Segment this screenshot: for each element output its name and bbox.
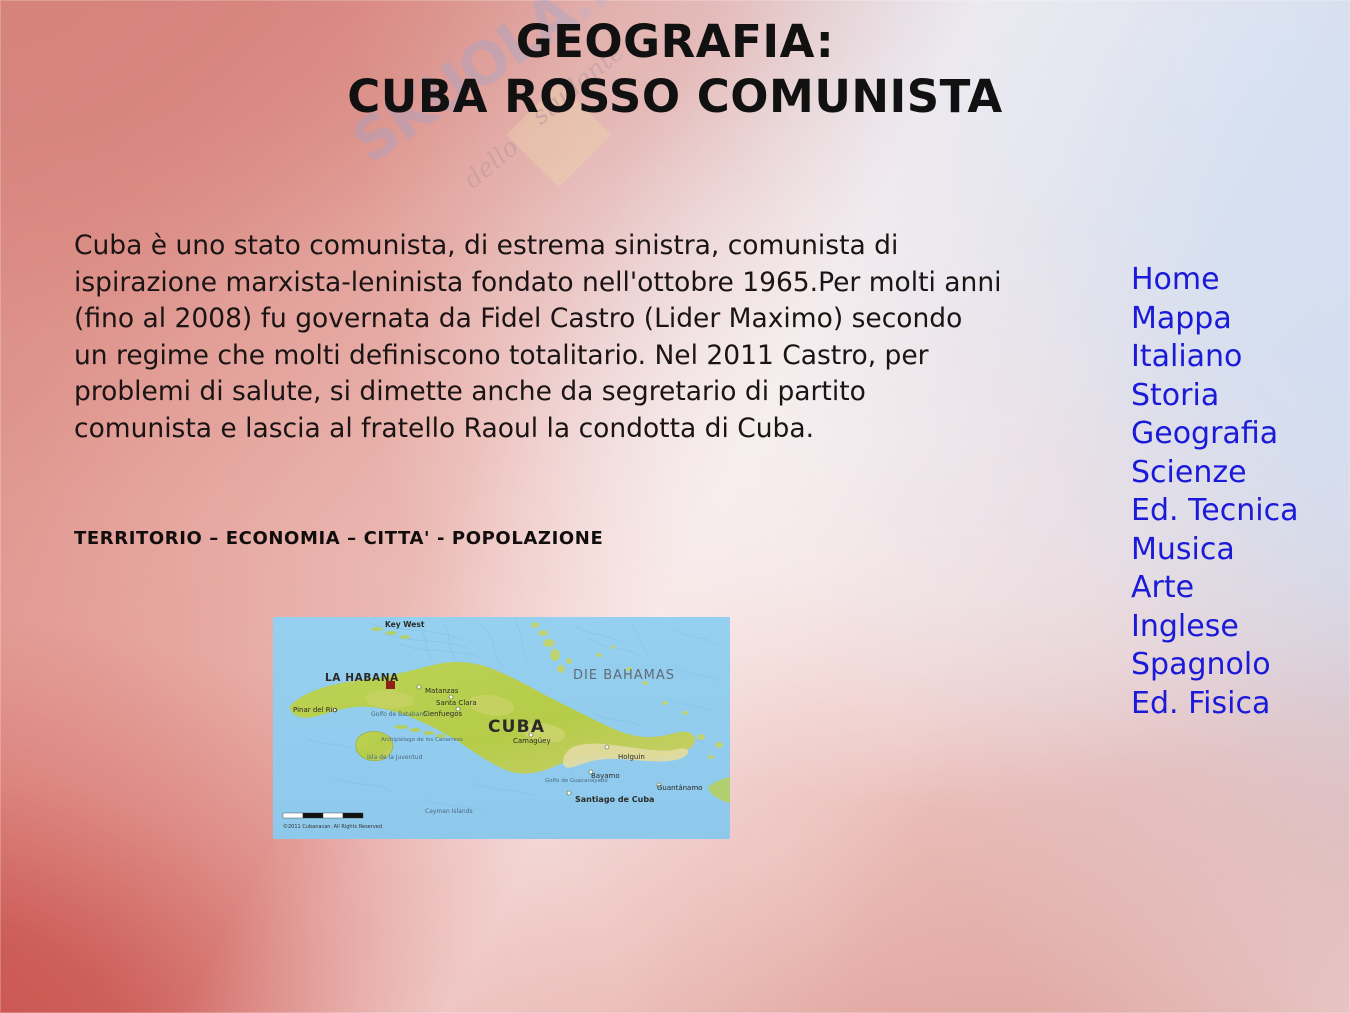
title-line-1: GEOGRAFIA: — [0, 14, 1350, 69]
map-label-holguin: Holguin — [618, 753, 645, 761]
map-label-golfo-batabano: Golfo de Batabanó — [371, 711, 427, 718]
nav-item-home[interactable]: Home — [1131, 261, 1301, 300]
body-paragraph: Cuba è uno stato comunista, di estrema s… — [74, 228, 1004, 447]
map-label-country: CUBA — [488, 717, 545, 737]
map-scale-bar — [283, 813, 363, 818]
map-copyright: ©2011 Cubanacan. All Rights Reserved — [283, 823, 382, 830]
nav-item-scienze[interactable]: Scienze — [1131, 454, 1301, 493]
map-label-pinar-del-rio: Pinar del Rio — [293, 706, 337, 714]
nav-item-spagnolo[interactable]: Spagnolo — [1131, 646, 1301, 685]
cuba-map-svg: LA HABANA CUBA DIE BAHAMAS Matanzas Sant… — [273, 617, 730, 839]
map-label-camaguey: Camagüey — [513, 737, 551, 745]
map-label-canarreos: Archipiélago de los Canarreos — [381, 736, 463, 743]
map-label-cienfuegos: Cienfuegos — [423, 710, 463, 718]
map-label-key-west: Key West — [385, 620, 425, 629]
map-label-capital: LA HABANA — [325, 672, 399, 684]
nav-item-mappa[interactable]: Mappa — [1131, 300, 1301, 339]
nav-item-ed-fisica[interactable]: Ed. Fisica — [1131, 685, 1301, 724]
nav-item-ed-tecnica[interactable]: Ed. Tecnica — [1131, 492, 1301, 531]
title-line-2: CUBA ROSSO COMUNISTA — [0, 69, 1350, 124]
slide-canvas: SKUOLA.NET dello studente GEOGRAFIA: CUB… — [0, 0, 1350, 1013]
page-title: GEOGRAFIA: CUBA ROSSO COMUNISTA — [0, 14, 1350, 124]
nav-item-arte[interactable]: Arte — [1131, 569, 1301, 608]
map-label-santa-clara: Santa Clara — [436, 699, 477, 707]
map-label-cayman: Cayman Islands — [425, 808, 473, 815]
map-label-matanzas: Matanzas — [425, 687, 459, 695]
nav-item-inglese[interactable]: Inglese — [1131, 608, 1301, 647]
map-label-guantanamo: Guantánamo — [657, 784, 702, 792]
map-label-region: DIE BAHAMAS — [573, 668, 675, 683]
nav-item-italiano[interactable]: Italiano — [1131, 338, 1301, 377]
nav-item-musica[interactable]: Musica — [1131, 531, 1301, 570]
navigation-menu: Home Mappa Italiano Storia Geografia Sci… — [1131, 261, 1301, 723]
map-label-isla-juventud: Isla de la Juventud — [367, 754, 423, 761]
cuba-map-image: LA HABANA CUBA DIE BAHAMAS Matanzas Sant… — [273, 617, 730, 839]
map-label-santiago: Santiago de Cuba — [575, 795, 654, 804]
subheading-topics: TERRITORIO – ECONOMIA – CITTA' - POPOLAZ… — [74, 528, 603, 549]
nav-item-geografia[interactable]: Geografia — [1131, 415, 1301, 454]
map-label-guacanayabo: Golfo de Guacanayabo — [545, 778, 608, 784]
nav-item-storia[interactable]: Storia — [1131, 377, 1301, 416]
